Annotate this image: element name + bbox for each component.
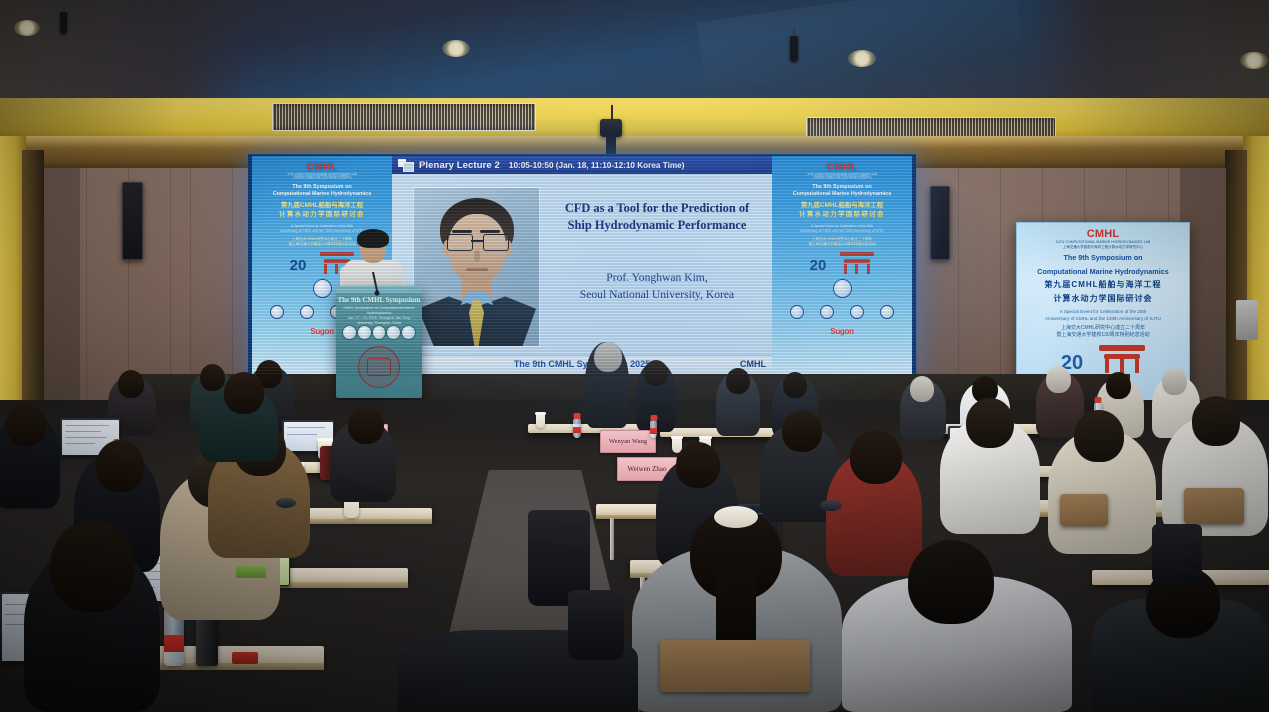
- podium-logo: [372, 325, 387, 340]
- cmhl-lab-cn: 上海交通大学船舶与海洋工程计算水动力学研究中心: [776, 176, 908, 179]
- audience-head: [783, 372, 807, 398]
- bottle-cap: [232, 652, 258, 664]
- slide-footer-logo: CMHL: [740, 359, 766, 369]
- audience-head: [224, 372, 264, 414]
- slide-title: CFD as a Tool for the Prediction of Ship…: [550, 200, 764, 234]
- audience-head: [850, 430, 902, 484]
- rollup-title-en-2: Computational Marine Hydrodynamics: [1017, 267, 1189, 277]
- podium-logo: [401, 325, 416, 340]
- audience-head: [594, 342, 622, 372]
- podium-logo: [357, 325, 372, 340]
- wall-speaker: [930, 186, 950, 260]
- conference-hall-photo: CMHL SJTU COMPUTATIONAL MARINE HYDRODYNA…: [0, 0, 1269, 712]
- rollup-title-cn-2: 计算水动力学国际研讨会: [1017, 293, 1189, 304]
- presentation-slide: Plenary Lecture 2 10:05-10:50 (Jan. 18, …: [392, 156, 772, 374]
- rollup-title-cn-1: 第九届CMHL船舶与海洋工程: [1017, 279, 1189, 290]
- desk-edge: [292, 519, 432, 524]
- cmhl-logo-text: CMHL: [307, 162, 337, 173]
- backpack: [568, 590, 624, 660]
- nameplate-name: Wenyan Wang: [609, 438, 647, 446]
- rollup-title-en-1: The 9th Symposium on: [1017, 253, 1189, 263]
- audience-head: [782, 410, 822, 452]
- thermos-flask: [196, 614, 218, 666]
- audience-head: [1046, 366, 1071, 393]
- water-bottle: [573, 418, 581, 438]
- banner-note-cn-2: 暨上海交通大学建校130周年特别纪念活动: [776, 242, 908, 247]
- podium-lectern: The 9th CMHL Symposium CMHL Symposium on…: [336, 286, 422, 398]
- banner-title-en-1: The 9th Symposium on: [776, 184, 908, 191]
- desk-leg: [610, 518, 614, 560]
- chair[interactable]: [1184, 488, 1244, 524]
- podium-logo-row: [342, 324, 416, 340]
- podium-logo: [386, 325, 401, 340]
- slide-body: CFD as a Tool for the Prediction of Ship…: [392, 174, 772, 356]
- sticky-note: [236, 566, 266, 578]
- slide-speaker-block: Prof. Yonghwan Kim, Seoul National Unive…: [550, 269, 764, 303]
- water-bottle: [650, 420, 657, 438]
- anniversary-20-mark: 20: [810, 257, 827, 274]
- coffee-cup: [536, 414, 545, 428]
- rollup-note-en-2: Anniversary of CMHL and the 130th Annive…: [1017, 316, 1189, 323]
- chair[interactable]: [660, 640, 810, 692]
- banner-title-en-2: Computational Marine Hydrodynamics: [776, 191, 908, 198]
- audience-head: [1162, 368, 1187, 395]
- audience-head: [50, 520, 134, 612]
- audience-head: [910, 376, 934, 402]
- podium-seal-emblem: [358, 346, 400, 388]
- rollup-note-en-1: A Special Event for Celebration of the 2…: [1017, 309, 1189, 316]
- plenary-lecture-time: 10:05-10:50 (Jan. 18, 11:10-12:10 Korea …: [509, 161, 685, 170]
- banner-note-en-2: Anniversary of CMHL and the 130th Annive…: [776, 229, 908, 234]
- audience-head: [118, 370, 144, 398]
- banner-title-en-2: Computational Marine Hydrodynamics: [256, 191, 388, 198]
- supporter-logo: [880, 305, 894, 319]
- nameplate-name: Weiwen Zhao: [628, 465, 667, 473]
- eyeglasses-icon: [447, 234, 507, 249]
- rollup-lab-cn: 上海交通大学船舶与海洋工程计算水动力学研究中心: [1017, 244, 1189, 249]
- cmhl-center-logo: [833, 279, 852, 298]
- supporter-logo: [850, 305, 864, 319]
- anniversary-gate-mark: [840, 252, 874, 274]
- slide-window-icon: [398, 159, 413, 171]
- ceiling-shadow-left: [0, 0, 250, 100]
- slide-title-line-2: Ship Hydrodynamic Performance: [550, 217, 764, 234]
- computer-mouse[interactable]: [820, 500, 842, 511]
- proscenium-gloss: [0, 136, 1269, 148]
- ceiling-shadow-right: [1030, 0, 1269, 100]
- audience-head: [96, 440, 144, 492]
- banner-title-cn-1: 第九届CMHL船舶与海洋工程: [776, 201, 908, 210]
- downlight: [1240, 52, 1268, 69]
- anniversary-20-mark: 20: [290, 257, 307, 274]
- table-nameplate: Wenyan Wang: [600, 430, 656, 453]
- computer-mouse[interactable]: [276, 498, 296, 508]
- led-banner-right: CMHL SJTU COMPUTATIONAL MARINE HYDRODYNA…: [772, 156, 912, 374]
- presenter-person: [342, 232, 404, 294]
- podium-logo: [342, 325, 357, 340]
- cmhl-lab-cn: 上海交通大学船舶与海洋工程计算水动力学研究中心: [256, 176, 388, 179]
- backpack: [1152, 524, 1202, 586]
- supporter-logo: [270, 305, 284, 319]
- supporter-logo: [790, 305, 804, 319]
- wall-speaker: [122, 182, 143, 260]
- slide-title-line-1: CFD as a Tool for the Prediction of: [550, 200, 764, 217]
- rollup-note-cn-2: 暨上海交通大学建校130周年特别纪念活动: [1017, 332, 1189, 339]
- soffit-shading: [0, 98, 1269, 138]
- banner-title-cn-2: 计算水动力学国际研讨会: [256, 210, 388, 219]
- audience-head: [6, 402, 46, 446]
- hvac-vent-grille: [272, 103, 536, 131]
- cmhl-logo-text: CMHL: [827, 162, 857, 173]
- slide-footer: 10 The 9th CMHL Symposium 2025 CMHL: [392, 355, 772, 374]
- audience-head: [348, 406, 384, 444]
- supporter-logo: [820, 305, 834, 319]
- downlight: [442, 40, 470, 57]
- slide-header-bar: Plenary Lecture 2 10:05-10:50 (Jan. 18, …: [392, 156, 772, 174]
- plenary-lecture-label: Plenary Lecture 2: [419, 160, 500, 171]
- slide-speaker-name: Prof. Yonghwan Kim,: [550, 269, 764, 286]
- audience-head: [1074, 410, 1124, 462]
- audience-head: [200, 364, 225, 391]
- speaker-portrait-photo: [414, 188, 539, 346]
- audience-head: [726, 368, 750, 394]
- sponsor-sugon-logo: Sugon: [776, 327, 908, 336]
- banner-title-cn-1: 第九届CMHL船舶与海洋工程: [256, 201, 388, 210]
- slide-footer-title: The 9th CMHL Symposium 2025: [392, 359, 772, 369]
- audience-head: [1192, 396, 1240, 446]
- audience-head: [908, 540, 994, 624]
- rollup-cmhl-logo: CMHL: [1087, 228, 1120, 240]
- downlight: [14, 20, 40, 36]
- cmhl-center-logo: [313, 279, 332, 298]
- banner-title-cn-2: 计算水动力学国际研讨会: [776, 210, 908, 219]
- hair-scrunchie: [714, 506, 758, 528]
- ceiling-speaker-icon: [60, 12, 67, 34]
- audience-head: [676, 442, 720, 488]
- chair[interactable]: [1060, 494, 1108, 526]
- slide-speaker-affiliation: Seoul National University, Korea: [550, 286, 764, 303]
- rollup-anniversary-gate-mark: [1099, 345, 1145, 373]
- podium-title: The 9th CMHL Symposium: [336, 296, 422, 304]
- audience-head: [1106, 372, 1131, 399]
- audience-head: [966, 398, 1014, 448]
- banner-title-en-1: The 9th Symposium on: [256, 184, 388, 191]
- supporter-logo: [300, 305, 314, 319]
- wall-control-panel[interactable]: [1236, 300, 1258, 340]
- podium-subtitle-1: CMHL Symposium on Computational Marine H…: [340, 306, 418, 316]
- audience-head: [644, 360, 668, 386]
